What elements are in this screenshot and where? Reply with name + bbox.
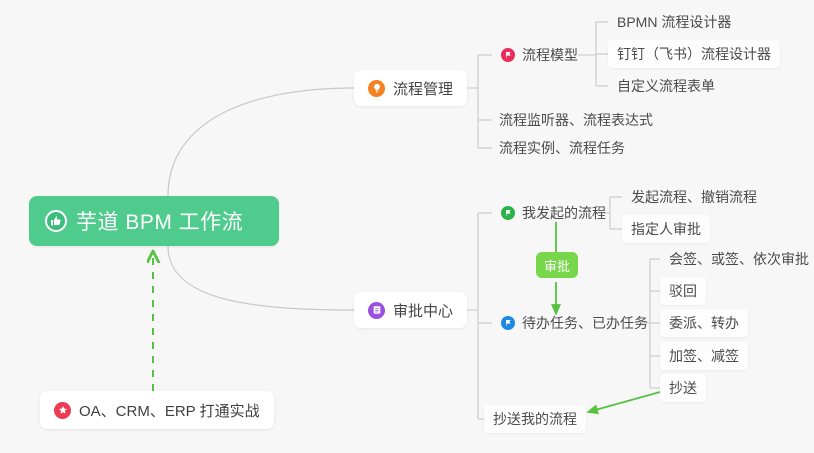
node-start-cancel-process[interactable]: 发起流程、撤销流程 xyxy=(622,183,766,211)
node-label: BPMN 流程设计器 xyxy=(617,12,731,32)
node-label: 指定人审批 xyxy=(631,219,701,239)
node-label: 流程模型 xyxy=(522,45,578,65)
node-add-remove-sign[interactable]: 加签、减签 xyxy=(660,342,748,370)
branch-label: 审批中心 xyxy=(393,300,453,321)
approval-tag-label: 审批 xyxy=(544,256,570,275)
branch-label: 流程管理 xyxy=(393,78,453,99)
node-label: 会签、或签、依次审批 xyxy=(669,249,809,269)
node-process-instance-task[interactable]: 流程实例、流程任务 xyxy=(490,134,634,162)
clipboard-icon xyxy=(368,302,385,319)
node-label: 待办任务、已办任务 xyxy=(522,313,648,333)
node-delegate-transfer[interactable]: 委派、转办 xyxy=(660,309,748,337)
root-node[interactable]: 芋道 BPM 工作流 xyxy=(29,196,279,246)
node-label: 驳回 xyxy=(669,281,697,301)
node-reject[interactable]: 驳回 xyxy=(660,277,706,305)
node-label: 钉钉（飞书）流程设计器 xyxy=(617,44,771,64)
flag-icon xyxy=(501,316,515,330)
node-custom-process-form[interactable]: 自定义流程表单 xyxy=(608,72,724,100)
node-my-started-process[interactable]: 我发起的流程 xyxy=(492,199,615,227)
mindmap-canvas[interactable]: 芋道 BPM 工作流 流程管理 流程模型 BPMN 流程设计器 钉钉（飞书）流程… xyxy=(0,0,814,453)
node-label: 委派、转办 xyxy=(669,313,739,333)
node-process-listener-expression[interactable]: 流程监听器、流程表达式 xyxy=(490,106,662,134)
node-label: 发起流程、撤销流程 xyxy=(631,187,757,207)
root-label: 芋道 BPM 工作流 xyxy=(76,206,243,236)
node-todo-done-tasks[interactable]: 待办任务、已办任务 xyxy=(492,309,657,337)
node-countersign-or-sequential[interactable]: 会签、或签、依次审批 xyxy=(660,245,814,273)
lightbulb-icon xyxy=(368,80,385,97)
node-process-model[interactable]: 流程模型 xyxy=(492,41,587,69)
approval-tag[interactable]: 审批 xyxy=(536,252,578,278)
node-bpmn-designer[interactable]: BPMN 流程设计器 xyxy=(608,8,740,36)
star-icon xyxy=(54,402,71,419)
node-label: 流程实例、流程任务 xyxy=(499,138,625,158)
node-assignee-approval[interactable]: 指定人审批 xyxy=(622,215,710,243)
node-label: 自定义流程表单 xyxy=(617,76,715,96)
branch-node-process-management[interactable]: 流程管理 xyxy=(354,70,467,106)
branch-node-approval-center[interactable]: 审批中心 xyxy=(354,292,467,328)
thumbs-up-icon xyxy=(45,210,67,232)
floating-note-label: OA、CRM、ERP 打通实战 xyxy=(79,400,260,421)
flag-icon xyxy=(501,48,515,62)
flag-icon xyxy=(501,206,515,220)
node-cc[interactable]: 抄送 xyxy=(660,374,706,402)
node-cc-to-me-process[interactable]: 抄送我的流程 xyxy=(484,405,586,433)
node-label: 抄送 xyxy=(669,378,697,398)
floating-note-oa-crm-erp[interactable]: OA、CRM、ERP 打通实战 xyxy=(40,391,274,429)
node-label: 抄送我的流程 xyxy=(493,409,577,429)
node-label: 加签、减签 xyxy=(669,346,739,366)
node-dingtalk-feishu-designer[interactable]: 钉钉（飞书）流程设计器 xyxy=(608,40,780,68)
node-label: 我发起的流程 xyxy=(522,203,606,223)
node-label: 流程监听器、流程表达式 xyxy=(499,110,653,130)
